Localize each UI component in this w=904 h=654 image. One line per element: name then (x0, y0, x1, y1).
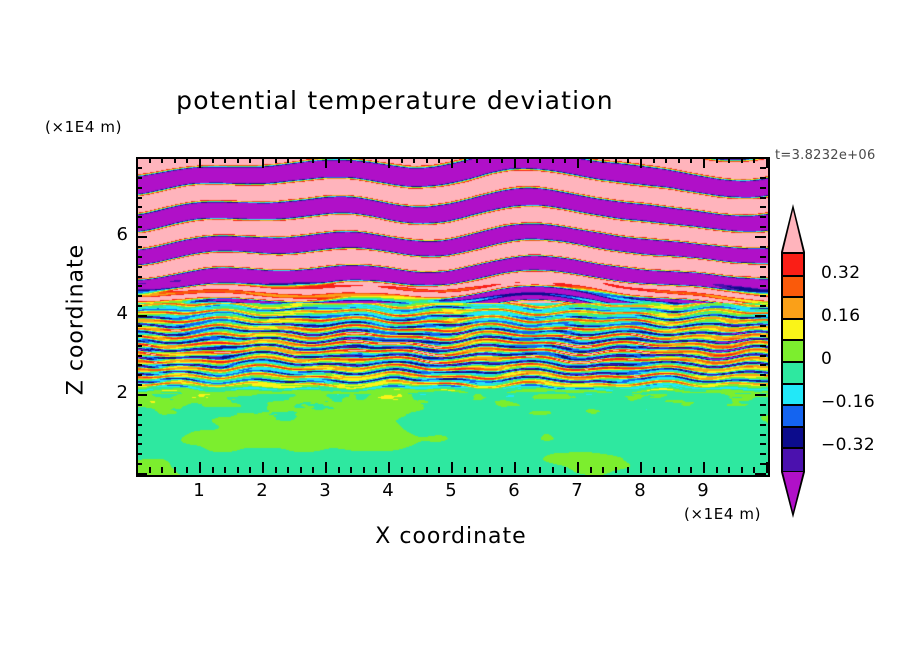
y-minor-tick (136, 424, 142, 426)
x-minor-tick-top (501, 157, 503, 163)
x-major-tick (388, 462, 390, 473)
y-minor-tick-right (760, 463, 766, 465)
y-minor-tick (136, 246, 142, 248)
colorbar-separator (783, 404, 803, 406)
x-minor-tick-top (489, 157, 491, 163)
y-minor-tick-right (760, 443, 766, 445)
x-minor-tick (602, 467, 604, 473)
colorbar-segment (783, 254, 803, 276)
y-minor-tick-right (760, 305, 766, 307)
y-minor-tick (136, 187, 142, 189)
y-major-tick-right (755, 473, 766, 475)
x-minor-tick-top (287, 157, 289, 163)
x-minor-tick-top (338, 157, 340, 163)
x-minor-tick (665, 467, 667, 473)
x-minor-tick-top (186, 157, 188, 163)
y-minor-tick-right (760, 266, 766, 268)
colorbar-segment (783, 384, 803, 406)
y-minor-tick-right (760, 187, 766, 189)
x-tick-label: 7 (562, 480, 592, 501)
page-title: potential temperature deviation (0, 86, 790, 115)
x-minor-tick-top (552, 157, 554, 163)
x-minor-tick (438, 467, 440, 473)
x-minor-tick (186, 467, 188, 473)
colorbar-separator (783, 275, 803, 277)
colorbar-separator (783, 447, 803, 449)
x-minor-tick-top (312, 157, 314, 163)
x-minor-tick (375, 467, 377, 473)
x-major-tick-top (703, 157, 705, 168)
y-minor-tick (136, 404, 142, 406)
y-minor-tick-right (760, 384, 766, 386)
colorbar-segment (783, 297, 803, 319)
x-tick-label: 4 (373, 480, 403, 501)
x-minor-tick-top (350, 157, 352, 163)
x-tick-label: 8 (625, 480, 655, 501)
y-minor-tick-right (760, 177, 766, 179)
colorbar-separator (783, 426, 803, 428)
colorbar-segment (783, 276, 803, 298)
colorbar-tick-label: −0.32 (821, 435, 875, 455)
y-minor-tick-right (760, 246, 766, 248)
x-minor-tick (275, 467, 277, 473)
y-minor-tick (136, 463, 142, 465)
y-minor-tick-right (760, 167, 766, 169)
x-major-tick (514, 462, 516, 473)
x-minor-tick (464, 467, 466, 473)
x-major-tick-top (325, 157, 327, 168)
y-minor-tick (136, 453, 142, 455)
x-minor-tick-top (161, 157, 163, 163)
timestamp-annotation: t=3.8232e+06 (775, 148, 876, 163)
x-minor-tick-top (149, 157, 151, 163)
colorbar-over-arrow (783, 210, 803, 252)
x-minor-tick (564, 467, 566, 473)
x-major-tick (766, 462, 768, 473)
colorbar-under-arrow (783, 472, 803, 512)
y-minor-tick-right (760, 364, 766, 366)
x-minor-tick-top (602, 157, 604, 163)
y-minor-tick (136, 226, 142, 228)
x-tick-label: 5 (436, 480, 466, 501)
x-minor-tick-top (375, 157, 377, 163)
y-minor-tick-right (760, 424, 766, 426)
x-tick-label: 1 (184, 480, 214, 501)
x-minor-tick (174, 467, 176, 473)
colorbar[interactable]: 0.320.160−0.16−0.32 (781, 204, 805, 516)
y-minor-tick-right (760, 335, 766, 337)
x-minor-tick (312, 467, 314, 473)
x-minor-tick-top (249, 157, 251, 163)
x-minor-tick (476, 467, 478, 473)
x-tick-label: 3 (310, 480, 340, 501)
y-minor-tick (136, 276, 142, 278)
y-major-tick-right (755, 394, 766, 396)
x-minor-tick (501, 467, 503, 473)
y-minor-tick-right (760, 414, 766, 416)
x-minor-tick-top (716, 157, 718, 163)
y-minor-tick (136, 305, 142, 307)
x-major-tick (199, 462, 201, 473)
x-minor-tick-top (363, 157, 365, 163)
x-minor-tick (615, 467, 617, 473)
x-minor-tick (728, 467, 730, 473)
colorbar-tick-label: 0.32 (821, 263, 860, 283)
colorbar-separator (783, 339, 803, 341)
x-minor-tick-top (275, 157, 277, 163)
y-minor-tick-right (760, 434, 766, 436)
x-tick-label: 2 (247, 480, 277, 501)
x-major-tick-top (451, 157, 453, 168)
x-minor-tick (237, 467, 239, 473)
x-minor-tick (401, 467, 403, 473)
y-minor-tick-right (760, 404, 766, 406)
y-axis-label: Z coordinate (64, 220, 89, 420)
x-minor-tick (690, 467, 692, 473)
y-minor-tick-right (760, 453, 766, 455)
x-minor-tick-top (665, 157, 667, 163)
y-minor-tick (136, 197, 142, 199)
x-minor-tick (527, 467, 529, 473)
y-axis-units-label: (×1E4 m) (45, 118, 122, 136)
colorbar-separator (783, 318, 803, 320)
x-minor-tick (627, 467, 629, 473)
x-major-tick (262, 462, 264, 473)
x-minor-tick (161, 467, 163, 473)
colorbar-separator (783, 296, 803, 298)
x-minor-tick (590, 467, 592, 473)
x-minor-tick (287, 467, 289, 473)
x-minor-tick-top (678, 157, 680, 163)
x-minor-tick (224, 467, 226, 473)
y-major-tick-right (755, 157, 766, 159)
x-minor-tick-top (413, 157, 415, 163)
y-minor-tick (136, 295, 142, 297)
x-minor-tick-top (464, 157, 466, 163)
x-minor-tick-top (653, 157, 655, 163)
y-minor-tick (136, 434, 142, 436)
y-minor-tick-right (760, 256, 766, 258)
colorbar-segment (783, 405, 803, 427)
colorbar-separator (783, 361, 803, 363)
y-major-tick (136, 394, 147, 396)
y-minor-tick-right (760, 206, 766, 208)
x-major-tick-top (577, 157, 579, 168)
x-minor-tick-top (615, 157, 617, 163)
y-minor-tick-right (760, 345, 766, 347)
y-major-tick (136, 473, 147, 475)
x-major-tick-top (262, 157, 264, 168)
x-minor-tick (552, 467, 554, 473)
x-major-tick-top (640, 157, 642, 168)
y-minor-tick-right (760, 295, 766, 297)
y-minor-tick (136, 256, 142, 258)
x-minor-tick-top (224, 157, 226, 163)
y-minor-tick (136, 266, 142, 268)
y-minor-tick (136, 414, 142, 416)
y-minor-tick (136, 325, 142, 327)
x-minor-tick-top (174, 157, 176, 163)
x-axis-units-label: (×1E4 m) (684, 505, 761, 523)
y-minor-tick-right (760, 276, 766, 278)
y-minor-tick-right (760, 226, 766, 228)
y-minor-tick (136, 206, 142, 208)
y-minor-tick-right (760, 216, 766, 218)
colorbar-separator (783, 383, 803, 385)
colorbar-tick-label: −0.16 (821, 392, 875, 412)
colorbar-tick-label: 0 (821, 349, 832, 369)
x-minor-tick (539, 467, 541, 473)
x-major-tick-top (199, 157, 201, 168)
y-minor-tick (136, 216, 142, 218)
colorbar-segment (783, 362, 803, 384)
x-minor-tick-top (438, 157, 440, 163)
x-major-tick (325, 462, 327, 473)
y-major-tick (136, 157, 147, 159)
x-minor-tick (489, 467, 491, 473)
x-minor-tick-top (590, 157, 592, 163)
x-minor-tick (716, 467, 718, 473)
x-minor-tick (338, 467, 340, 473)
x-minor-tick-top (527, 157, 529, 163)
y-minor-tick (136, 335, 142, 337)
x-minor-tick-top (627, 157, 629, 163)
x-major-tick (640, 462, 642, 473)
y-minor-tick (136, 285, 142, 287)
x-major-tick-top (514, 157, 516, 168)
x-minor-tick-top (539, 157, 541, 163)
colorbar-tick-label: 0.16 (821, 306, 860, 326)
x-minor-tick (212, 467, 214, 473)
x-minor-tick (653, 467, 655, 473)
y-major-tick (136, 315, 147, 317)
y-minor-tick-right (760, 374, 766, 376)
x-major-tick-top (766, 157, 768, 168)
x-minor-tick-top (564, 157, 566, 163)
y-tick-label: 2 (100, 382, 128, 403)
x-minor-tick (741, 467, 743, 473)
x-minor-tick (149, 467, 151, 473)
x-major-tick (451, 462, 453, 473)
x-axis-label: X coordinate (136, 524, 766, 549)
y-tick-label: 4 (100, 303, 128, 324)
plot-area[interactable] (136, 157, 770, 477)
y-minor-tick (136, 167, 142, 169)
y-minor-tick-right (760, 325, 766, 327)
x-minor-tick-top (741, 157, 743, 163)
x-minor-tick (678, 467, 680, 473)
colorbar-segment (783, 319, 803, 341)
x-minor-tick (413, 467, 415, 473)
y-minor-tick (136, 177, 142, 179)
y-tick-label: 6 (100, 224, 128, 245)
y-minor-tick (136, 384, 142, 386)
x-minor-tick (350, 467, 352, 473)
x-minor-tick-top (728, 157, 730, 163)
x-minor-tick-top (300, 157, 302, 163)
x-minor-tick-top (237, 157, 239, 163)
y-major-tick (136, 236, 147, 238)
y-minor-tick-right (760, 355, 766, 357)
x-minor-tick-top (401, 157, 403, 163)
x-minor-tick (249, 467, 251, 473)
y-minor-tick (136, 364, 142, 366)
y-minor-tick-right (760, 197, 766, 199)
x-minor-tick-top (690, 157, 692, 163)
y-minor-tick (136, 355, 142, 357)
x-minor-tick-top (426, 157, 428, 163)
y-major-tick-right (755, 236, 766, 238)
x-minor-tick-top (212, 157, 214, 163)
x-tick-label: 9 (688, 480, 718, 501)
x-minor-tick-top (476, 157, 478, 163)
y-minor-tick-right (760, 285, 766, 287)
x-minor-tick (363, 467, 365, 473)
y-minor-tick (136, 345, 142, 347)
y-major-tick-right (755, 315, 766, 317)
x-tick-label: 6 (499, 480, 529, 501)
x-major-tick-top (388, 157, 390, 168)
x-minor-tick (300, 467, 302, 473)
x-minor-tick (426, 467, 428, 473)
y-minor-tick (136, 374, 142, 376)
colorbar-segment (783, 448, 803, 470)
x-major-tick (577, 462, 579, 473)
x-major-tick (703, 462, 705, 473)
figure-canvas: potential temperature deviation (×1E4 m)… (0, 0, 904, 654)
colorbar-segment (783, 427, 803, 449)
colorbar-segment (783, 340, 803, 362)
contour-field (138, 159, 768, 475)
y-minor-tick (136, 443, 142, 445)
colorbar-body[interactable] (781, 252, 805, 472)
